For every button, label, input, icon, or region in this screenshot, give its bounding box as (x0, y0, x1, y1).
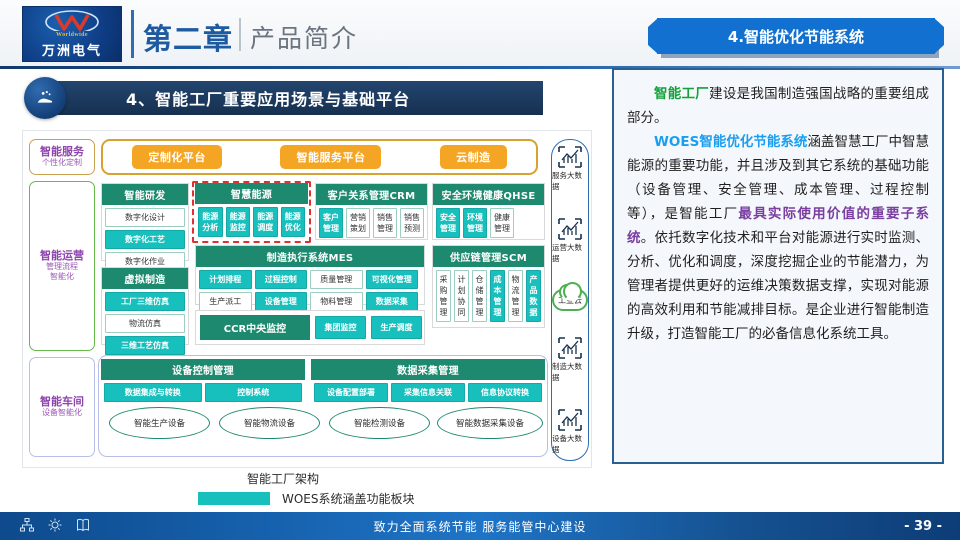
cell-qhse-0[interactable]: 安全管理 (436, 208, 460, 238)
group-ccr: CCR中央监控 集团监控 生产调度 (195, 310, 425, 345)
cell-rd-1[interactable]: 数字化工艺 (105, 230, 185, 249)
group-virtual-manufacturing: 虚拟制造 工厂三维仿真 物流仿真 三维工艺仿真 (101, 267, 189, 345)
cell-mes-2[interactable]: 质量管理 (310, 270, 363, 289)
cell-scm-5[interactable]: 产品数据 (526, 270, 541, 322)
right-panel-body: 智能工厂建设是我国制造强国战略的重要组成部分。 WOES智能优化节能系统涵盖智慧… (612, 68, 944, 464)
rail-item-equipment-bigdata[interactable]: 设备大数据 (552, 408, 588, 455)
factory-hand-icon (24, 77, 66, 119)
group-crm: 客户关系管理CRM 客户管理 营销策划 销售管理 销售预测 (315, 183, 428, 240)
logo-mark-icon (44, 9, 100, 31)
diagram-legend: WOES系统涵盖功能板块 (198, 490, 415, 507)
logo-subtitle: Worldwide (56, 32, 88, 38)
group-qhse-head: 安全环境健康QHSE (433, 184, 544, 205)
oval-smart-logistics-equipment[interactable]: 智能物流设备 (219, 407, 320, 439)
industrial-cloud-icon[interactable]: 工业云 (552, 289, 588, 311)
group-rd-head: 智能研发 (102, 184, 188, 205)
oval-smart-data-collection-equipment[interactable]: 智能数据采集设备 (437, 407, 543, 439)
right-panel-paragraph-2: WOES智能优化节能系统涵盖智慧工厂中智慧能源的重要功能，并且涉及到其它系统的基… (627, 130, 929, 346)
cell-qhse-3 (517, 208, 541, 238)
lane-sub-smart-operation-line1: 管理流程 (46, 262, 78, 272)
cell-vm-0[interactable]: 工厂三维仿真 (105, 292, 185, 311)
cell-qhse-1[interactable]: 环境管理 (463, 208, 487, 238)
right-panel-title: 4.智能优化节能系统 (657, 18, 935, 54)
cell-scm-0[interactable]: 采购管理 (436, 270, 451, 322)
cell-mes-3[interactable]: 可视化管理 (366, 270, 419, 289)
ccr-main-label[interactable]: CCR中央监控 (200, 315, 310, 340)
lane-title-smart-operation: 智能运营 (40, 250, 84, 263)
rail-item-manufacturing-bigdata[interactable]: 制造大数据 (552, 336, 588, 383)
cell-rd-0[interactable]: 数字化设计 (105, 208, 185, 227)
cell-crm-1[interactable]: 营销策划 (346, 208, 370, 238)
platform-pill-cloud[interactable]: 云制造 (440, 145, 507, 169)
footer-slogan: 致力全面系统节能 服务能管中心建设 (0, 518, 960, 535)
big-data-rail: 服务大数据 运营大数据 工业云 制造大数据 设备大 (551, 139, 589, 461)
bigdata-chart-icon (556, 217, 584, 241)
cell-energy-2[interactable]: 能源调度 (253, 207, 278, 237)
platform-pill-service[interactable]: 智能服务平台 (280, 145, 381, 169)
cell-mes-6[interactable]: 物料管理 (310, 292, 363, 311)
cell-energy-1[interactable]: 能源监控 (226, 207, 251, 237)
cell-energy-3[interactable]: 能源优化 (281, 207, 306, 237)
lane-label-smart-service: 智能服务 个性化定制 (29, 139, 95, 175)
rail-item-operation-bigdata[interactable]: 运营大数据 (552, 217, 588, 264)
footer-page-number: - 39 - (904, 519, 942, 534)
cell-mes-4[interactable]: 生产派工 (199, 292, 252, 311)
cell-mes-7[interactable]: 数据采集 (366, 292, 419, 311)
lane-label-smart-operation: 智能运营 管理流程 智能化 (29, 181, 95, 351)
rp-p1-highlight: 智能工厂 (654, 86, 709, 102)
platform-row: 定制化平台 智能服务平台 云制造 (101, 139, 538, 175)
section-title-text: 4、智能工厂重要应用场景与基础平台 (126, 86, 410, 110)
workshop-group-frame (98, 355, 548, 457)
cell-scm-4[interactable]: 物流管理 (508, 270, 523, 322)
cell-vm-1[interactable]: 物流仿真 (105, 314, 185, 333)
group-qhse: 安全环境健康QHSE 安全管理 环境管理 健康管理 (432, 183, 545, 240)
rail-label-service-bigdata: 服务大数据 (552, 170, 588, 192)
diagram-caption: 智能工厂架构 (247, 470, 319, 487)
rail-label-operation-bigdata: 运营大数据 (552, 242, 588, 264)
cell-crm-0[interactable]: 客户管理 (319, 208, 343, 238)
cell-mes-0[interactable]: 计划排程 (199, 270, 252, 289)
section-title-bar: 4、智能工厂重要应用场景与基础平台 (56, 81, 543, 115)
cell-energy-0[interactable]: 能源分析 (198, 207, 223, 237)
group-scm: 供应链管理SCM 采购管理 计划协同 仓储管理 成本管理 物流管理 产品数据 (432, 245, 545, 328)
group-scm-head: 供应链管理SCM (433, 246, 544, 267)
rail-label-equipment-bigdata: 设备大数据 (552, 433, 588, 455)
bigdata-chart-icon (556, 408, 584, 432)
rail-item-service-bigdata[interactable]: 服务大数据 (552, 145, 588, 192)
right-panel-title-text: 4.智能优化节能系统 (728, 26, 864, 47)
smart-factory-architecture-diagram: 定制化平台 智能服务平台 云制造 智能服务 个性化定制 智能运营 管理流程 智能… (22, 130, 592, 468)
ccr-row: CCR中央监控 集团监控 生产调度 (200, 315, 422, 340)
oval-smart-inspection-equipment[interactable]: 智能检测设备 (329, 407, 430, 439)
oval-smart-production-equipment[interactable]: 智能生产设备 (109, 407, 210, 439)
legend-label: WOES系统涵盖功能板块 (282, 490, 415, 507)
group-mes: 制造执行系统MES 计划排程 过程控制 质量管理 可视化管理 生产派工 设备管理… (195, 245, 425, 305)
cell-mes-5[interactable]: 设备管理 (255, 292, 308, 311)
platform-pill-custom[interactable]: 定制化平台 (132, 145, 222, 169)
cell-vm-2[interactable]: 三维工艺仿真 (105, 336, 185, 355)
lane-title-smart-service: 智能服务 (40, 146, 84, 159)
chapter-subtitle: 产品简介 (250, 19, 358, 55)
logo-company-name: 万洲电气 (42, 40, 102, 59)
bigdata-chart-icon (556, 145, 584, 169)
rp-p2-highlight-blue: WOES智能优化节能系统 (654, 134, 807, 150)
chapter-separator (239, 18, 241, 51)
lane-sub-smart-workshop: 设备智能化 (42, 408, 82, 418)
cell-scm-1[interactable]: 计划协同 (454, 270, 469, 322)
lane-sub-smart-service: 个性化定制 (42, 158, 82, 168)
lane-label-smart-workshop: 智能车间 设备智能化 (29, 357, 95, 457)
page-footer: 致力全面系统节能 服务能管中心建设 - 39 - (0, 512, 960, 540)
legend-color-swatch (198, 492, 270, 505)
rail-label-manufacturing-bigdata: 制造大数据 (552, 361, 588, 383)
chapter-title: 第二章 (143, 16, 233, 58)
cell-ccr-1[interactable]: 生产调度 (371, 316, 422, 339)
header-vertical-divider (131, 10, 134, 58)
cell-crm-3[interactable]: 销售预测 (400, 208, 424, 238)
group-vm-head: 虚拟制造 (102, 268, 188, 289)
cell-mes-1[interactable]: 过程控制 (255, 270, 308, 289)
bigdata-chart-icon (556, 336, 584, 360)
group-smart-energy: 智慧能源 能源分析 能源监控 能源调度 能源优化 (195, 183, 308, 240)
right-panel-paragraph-1: 智能工厂建设是我国制造强国战略的重要组成部分。 (627, 82, 929, 130)
lane-title-smart-workshop: 智能车间 (40, 396, 84, 409)
cell-crm-2[interactable]: 销售管理 (373, 208, 397, 238)
group-mes-head: 制造执行系统MES (196, 246, 424, 267)
cell-ccr-0[interactable]: 集团监控 (315, 316, 366, 339)
group-rd: 智能研发 数字化设计 数字化工艺 数字化作业 (101, 183, 189, 261)
cell-scm-2[interactable]: 仓储管理 (472, 270, 487, 322)
group-crm-head: 客户关系管理CRM (316, 184, 427, 205)
rp-p2-text-b: 。依托数字化技术和平台对能源进行实时监测、分析、优化和调度，深度挖掘企业的节能潜… (627, 230, 929, 342)
cell-scm-3[interactable]: 成本管理 (490, 270, 505, 322)
group-energy-head: 智慧能源 (195, 183, 308, 204)
lane-sub-smart-operation-line2: 智能化 (50, 272, 74, 282)
cell-qhse-2[interactable]: 健康管理 (490, 208, 514, 238)
company-logo: Worldwide 万洲电气 (22, 6, 122, 62)
